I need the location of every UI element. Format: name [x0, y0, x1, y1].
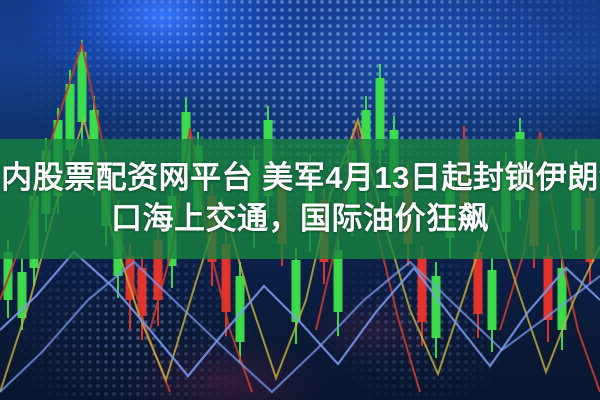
news-banner: 国内股票配资网平台 美军4月13日起封锁伊朗港 口海上交通，国际油价狂飙 [0, 0, 600, 400]
green-overlay-band [0, 139, 600, 259]
